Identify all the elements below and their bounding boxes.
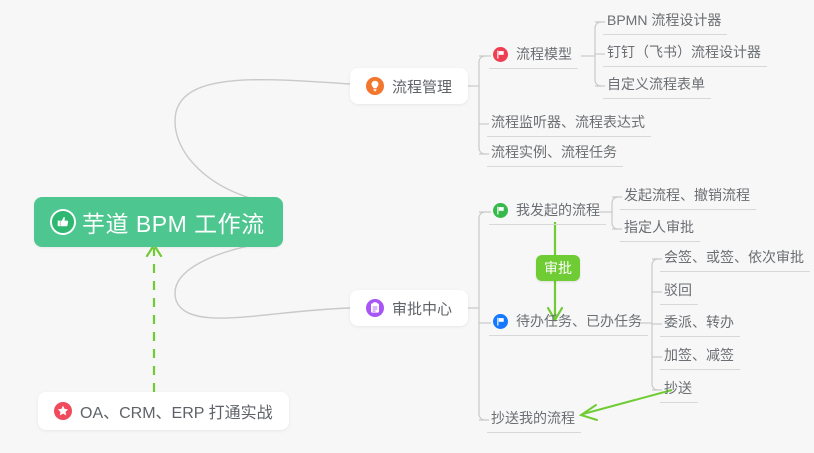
mindmap-canvas: 芋道 BPM 工作流 OA、CRM、ERP 打通实战 流程管理 [0, 0, 814, 453]
edge-root-to-approval-center [175, 240, 350, 318]
branch-label-process-management: 流程管理 [392, 76, 452, 97]
callout-node-integration[interactable]: OA、CRM、ERP 打通实战 [38, 392, 289, 430]
label-custom-process-form: 自定义流程表单 [607, 74, 705, 94]
node-start-cancel-process[interactable]: 发起流程、撤销流程 [620, 184, 756, 210]
node-delegate-transfer[interactable]: 委派、转办 [660, 311, 740, 337]
approval-badge[interactable]: 审批 [536, 255, 580, 281]
label-cc-my-process: 抄送我的流程 [491, 408, 575, 428]
label-process-listener: 流程监听器、流程表达式 [491, 112, 645, 132]
node-my-initiated-process[interactable]: 我发起的流程 [489, 199, 606, 225]
node-process-listener[interactable]: 流程监听器、流程表达式 [487, 111, 651, 137]
label-my-initiated-process: 我发起的流程 [516, 200, 600, 220]
node-todo-done-tasks[interactable]: 待办任务、已办任务 [489, 310, 648, 336]
label-add-remove-sign: 加签、减签 [664, 345, 734, 365]
node-process-instance[interactable]: 流程实例、流程任务 [487, 141, 623, 167]
node-bpmn-designer[interactable]: BPMN 流程设计器 [603, 9, 727, 35]
branch-label-approval-center: 审批中心 [392, 298, 452, 319]
node-process-model[interactable]: 流程模型 [489, 43, 578, 69]
flag-icon [493, 203, 508, 218]
node-assignee-approval[interactable]: 指定人审批 [620, 216, 700, 242]
flag-icon [493, 314, 508, 329]
clipboard-icon [366, 299, 384, 317]
root-label: 芋道 BPM 工作流 [82, 205, 265, 239]
label-process-model: 流程模型 [516, 44, 572, 64]
label-countersign: 会签、或签、依次审批 [664, 247, 804, 267]
label-reject: 驳回 [664, 280, 692, 300]
node-cc[interactable]: 抄送 [660, 377, 698, 403]
label-assignee-approval: 指定人审批 [624, 217, 694, 237]
root-node[interactable]: 芋道 BPM 工作流 [34, 197, 283, 247]
callout-label: OA、CRM、ERP 打通实战 [80, 399, 273, 423]
node-countersign[interactable]: 会签、或签、依次审批 [660, 246, 810, 272]
edge-process-management-trunk [479, 56, 485, 154]
branch-node-process-management[interactable]: 流程管理 [350, 68, 468, 104]
label-bpmn-designer: BPMN 流程设计器 [607, 10, 721, 30]
node-dingtalk-designer[interactable]: 钉钉（飞书）流程设计器 [603, 41, 767, 67]
label-todo-done-tasks: 待办任务、已办任务 [516, 311, 642, 331]
label-dingtalk-designer: 钉钉（飞书）流程设计器 [607, 42, 761, 62]
node-cc-my-process[interactable]: 抄送我的流程 [487, 407, 581, 433]
branch-node-approval-center[interactable]: 审批中心 [350, 290, 468, 326]
edge-approval-center-trunk [479, 212, 485, 420]
label-cc: 抄送 [664, 378, 692, 398]
label-start-cancel-process: 发起流程、撤销流程 [624, 185, 750, 205]
edge-my-initiated-trunk [612, 197, 618, 229]
thumbs-up-icon [52, 211, 74, 233]
node-add-remove-sign[interactable]: 加签、减签 [660, 344, 740, 370]
star-icon [54, 402, 72, 420]
approval-badge-label: 审批 [544, 258, 572, 278]
node-reject[interactable]: 驳回 [660, 279, 698, 305]
node-custom-process-form[interactable]: 自定义流程表单 [603, 73, 711, 99]
lightbulb-icon [366, 77, 384, 95]
arrow-cc-to-cc-my-process [583, 390, 672, 414]
label-process-instance: 流程实例、流程任务 [491, 142, 617, 162]
label-delegate-transfer: 委派、转办 [664, 312, 734, 332]
flag-icon [493, 47, 508, 62]
edge-root-to-process-management [175, 80, 350, 205]
